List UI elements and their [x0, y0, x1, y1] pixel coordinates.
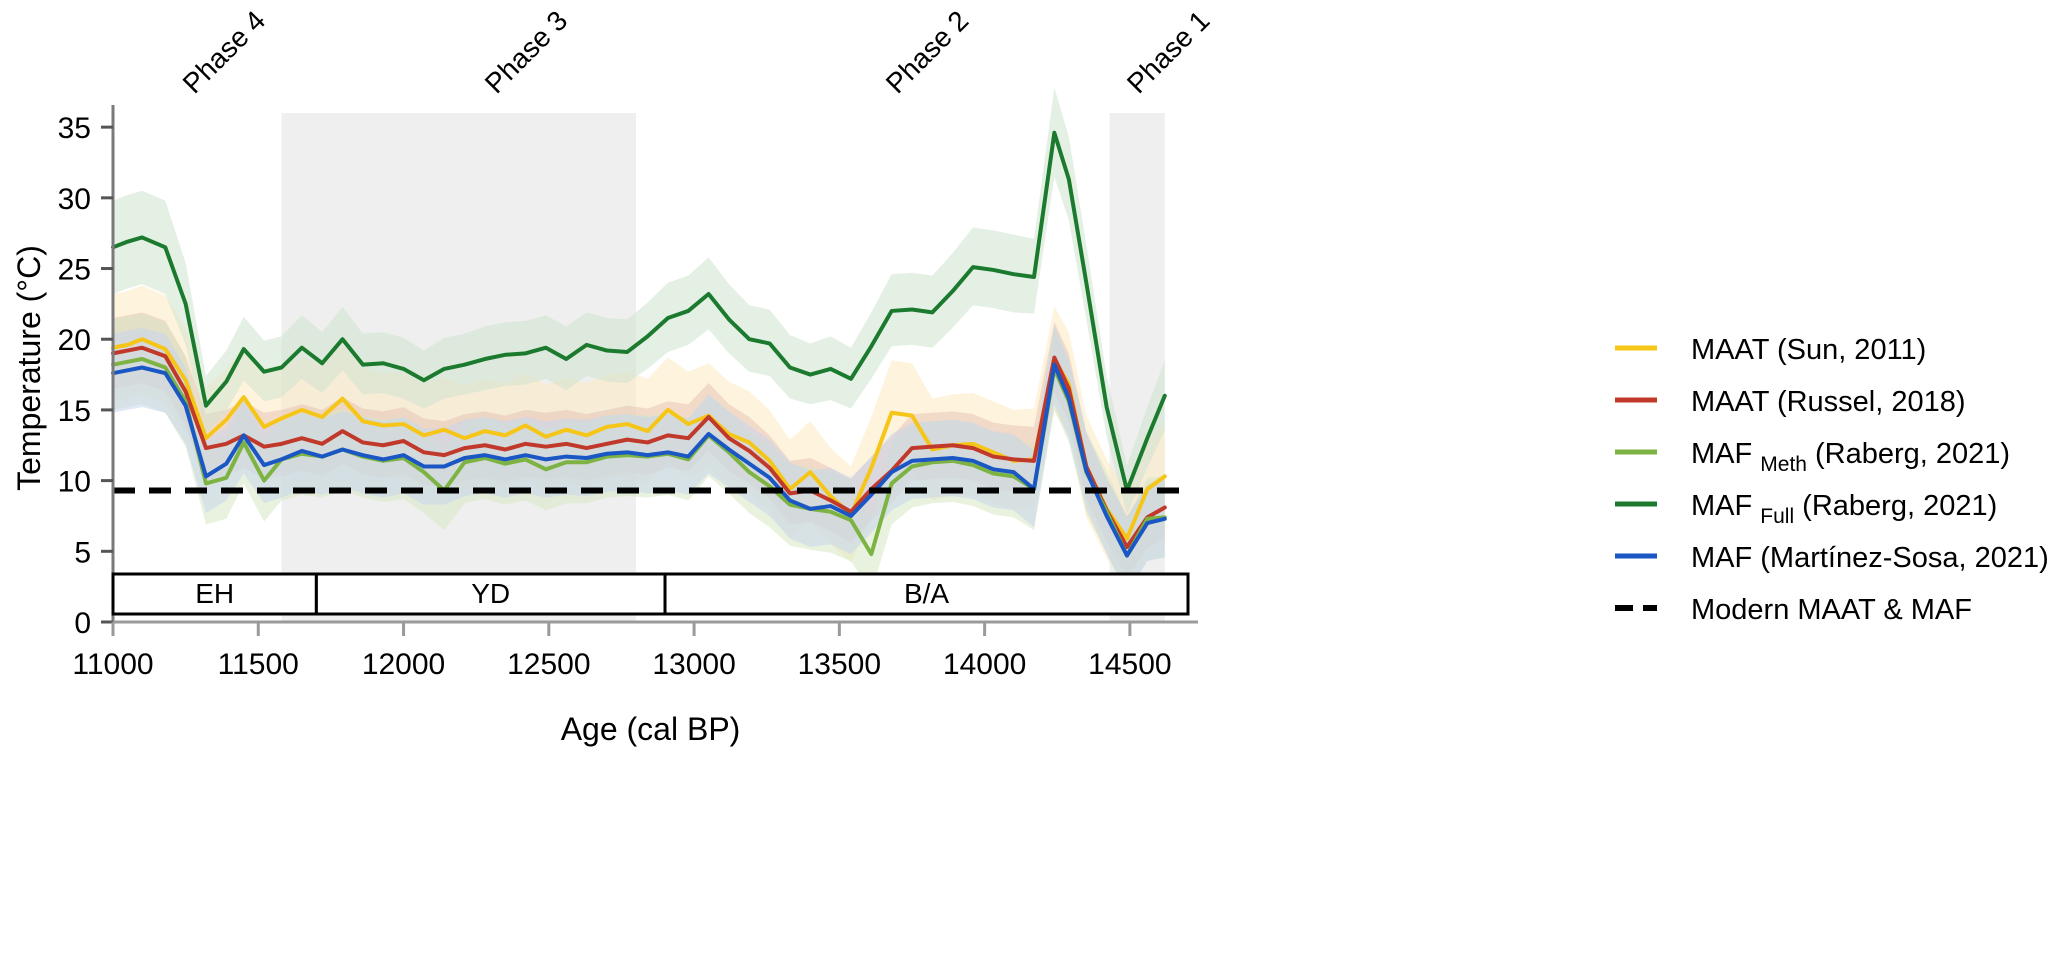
legend-label: MAF Full (Raberg, 2021) — [1691, 490, 1997, 528]
x-tick-label: 14000 — [943, 648, 1026, 681]
x-tick-label: 11000 — [72, 648, 153, 681]
chart-figure: 0510152025303511000115001200012500130001… — [0, 0, 2067, 956]
legend-label: MAF (Martínez-Sosa, 2021) — [1691, 542, 2049, 574]
x-tick-label: 12500 — [507, 648, 590, 681]
y-tick-label: 20 — [58, 324, 91, 357]
legend-item[interactable]: MAF (Martínez-Sosa, 2021) — [1615, 542, 2049, 574]
y-tick-label: 5 — [74, 536, 91, 569]
zone-bar: EHYDB/A — [113, 574, 1188, 614]
legend-item[interactable]: MAAT (Sun, 2011) — [1615, 334, 1926, 366]
x-axis-title: Age (cal BP) — [561, 711, 741, 747]
y-tick-label: 35 — [58, 112, 91, 145]
x-axis-ticks: 1100011500120001250013000135001400014500 — [72, 622, 1171, 681]
legend-item[interactable]: Modern MAAT & MAF — [1615, 594, 1972, 626]
legend-label: MAF Meth (Raberg, 2021) — [1691, 438, 2010, 476]
y-tick-label: 10 — [58, 466, 91, 499]
y-tick-label: 15 — [58, 395, 91, 428]
x-tick-label: 13000 — [652, 648, 735, 681]
legend-label: MAAT (Sun, 2011) — [1691, 334, 1926, 366]
phase-annotation-phase-3: Phase 3 — [479, 5, 574, 100]
legend-item[interactable]: MAAT (Russel, 2018) — [1615, 386, 1966, 418]
phase-annotation-phase-4: Phase 4 — [177, 5, 272, 100]
phase-annotation-phase-1: Phase 1 — [1121, 5, 1216, 100]
zone-label: B/A — [904, 578, 949, 609]
zone-label: EH — [195, 578, 234, 609]
legend: MAAT (Sun, 2011)MAAT (Russel, 2018)MAF M… — [1615, 334, 2049, 626]
temperature-reconstruction-chart: 0510152025303511000115001200012500130001… — [0, 0, 2067, 956]
legend-label: Modern MAAT & MAF — [1691, 594, 1972, 626]
zone-label: YD — [471, 578, 510, 609]
legend-item[interactable]: MAF Full (Raberg, 2021) — [1615, 490, 1997, 528]
y-tick-label: 0 — [74, 607, 91, 640]
legend-label: MAAT (Russel, 2018) — [1691, 386, 1966, 418]
x-tick-label: 11500 — [218, 648, 299, 681]
phase-annotations: Phase 4Phase 3Phase 2Phase 1 — [177, 5, 1216, 100]
x-tick-label: 12000 — [362, 648, 445, 681]
phase-annotation-phase-2: Phase 2 — [880, 5, 975, 100]
y-tick-label: 30 — [58, 183, 91, 216]
legend-item[interactable]: MAF Meth (Raberg, 2021) — [1615, 438, 2010, 476]
x-tick-label: 14500 — [1088, 648, 1171, 681]
y-axis-ticks: 05101520253035 — [58, 112, 113, 640]
y-tick-label: 25 — [58, 254, 91, 287]
x-tick-label: 13500 — [798, 648, 881, 681]
y-axis-title: Temperature (°C) — [11, 245, 47, 491]
